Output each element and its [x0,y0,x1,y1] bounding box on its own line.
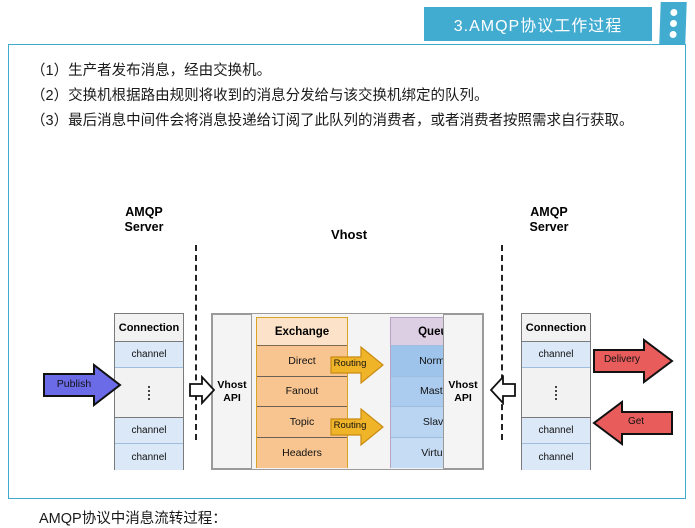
bottom-caption: AMQP协议中消息流转过程： [39,507,227,528]
transition-arrow-right-icon [490,375,516,405]
vhost-api-left: Vhost API [212,314,252,469]
divider-left [195,245,197,440]
title-banner: 3.AMQP协议工作过程 [424,7,652,41]
channel-item: channel [522,444,590,470]
connection-column-right: Connection channel channel channel [521,313,591,470]
amqp-left-line-1: AMQP [104,205,184,220]
channel-item: channel [115,444,183,470]
step-item-1: （1）生产者发布消息，经由交换机。 [31,59,671,84]
routing-arrow-2: Routing [329,407,385,447]
amqp-server-right-label: AMQP Server [509,205,589,235]
vertical-dots-icon [555,384,557,402]
routing-label-1: Routing [331,358,369,369]
delivery-arrow: Delivery [592,338,674,384]
transition-arrow-left [189,375,215,405]
transition-arrow-right [490,375,516,405]
channel-item: channel [522,418,590,444]
connection-column-left: Connection channel channel channel [114,313,184,470]
get-label: Get [614,416,658,427]
amqp-right-line-1: AMQP [509,205,589,220]
channel-item: channel [522,342,590,368]
vhost-api-left-line-1: Vhost [217,379,246,392]
dot-3 [669,31,676,38]
three-dots-icon [659,2,686,44]
exchange-header: Exchange [257,318,347,346]
divider-right [501,245,503,440]
routing-label-2: Routing [331,420,369,431]
publish-arrow: Publish [42,363,122,407]
get-arrow: Get [592,400,674,446]
publish-label: Publish [50,378,98,390]
dot-2 [669,20,676,27]
delivery-label: Delivery [596,354,648,365]
routing-arrow-1: Routing [329,345,385,385]
header-area: 3.AMQP协议工作过程 [0,0,695,44]
channel-item: channel [115,418,183,444]
vhost-api-left-line-2: API [217,392,246,405]
vhost-label: Vhost [299,227,399,242]
vertical-dots-icon [148,384,150,402]
vhost-api-right-line-1: Vhost [448,379,477,392]
connection-left-header: Connection [115,314,183,342]
page-title: 3.AMQP协议工作过程 [454,12,622,36]
transition-arrow-left-icon [189,375,215,405]
vhost-api-right: Vhost API [443,314,483,469]
steps-list: （1）生产者发布消息，经由交换机。 （2）交换机根据路由规则将收到的消息分发给与… [31,59,671,134]
connection-left-ellipsis [115,368,183,418]
connection-right-header: Connection [522,314,590,342]
connection-right-ellipsis [522,368,590,418]
amqp-left-line-2: Server [104,220,184,235]
step-item-3: （3）最后消息中间件会将消息投递给订阅了此队列的消费者，或者消费者按照需求自行获… [31,109,671,134]
vhost-api-right-line-2: API [448,392,477,405]
amqp-server-left-label: AMQP Server [104,205,184,235]
step-item-2: （2）交换机根据路由规则将收到的消息分发给与该交换机绑定的队列。 [31,84,671,109]
dot-1 [670,9,677,16]
channel-item: channel [115,342,183,368]
amqp-right-line-2: Server [509,220,589,235]
content-frame: （1）生产者发布消息，经由交换机。 （2）交换机根据路由规则将收到的消息分发给与… [8,44,686,499]
